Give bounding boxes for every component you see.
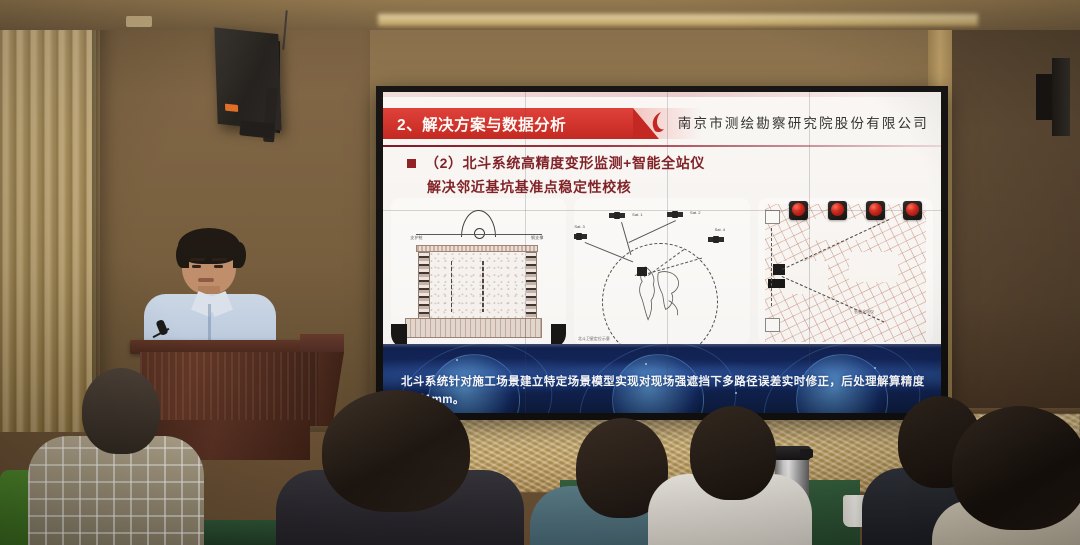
sight-line-3	[771, 228, 772, 306]
pit-cap-beam	[416, 245, 539, 252]
wall-speaker-right	[1052, 58, 1070, 136]
slide-bullet-block: （2）北斗系统高精度变形监测+智能全站仪 解决邻近基坑基准点稳定性校核	[407, 154, 827, 197]
satellite-icon-3	[574, 231, 587, 242]
presenter-eye-left	[192, 265, 201, 268]
led-seam-v3	[809, 92, 810, 413]
pit-retaining-wall-right	[525, 252, 537, 323]
presenter-brow-right	[212, 258, 227, 261]
slide-top-rule	[383, 92, 941, 97]
satellite-icon-4	[708, 234, 724, 245]
led-seam-v1	[525, 92, 526, 413]
podium-wood-grain	[140, 352, 318, 426]
ceiling-vent	[126, 16, 152, 27]
slide-section-banner: 2、解决方案与数据分析	[383, 108, 633, 139]
pit-label-right: 钢支撑	[531, 235, 544, 241]
speaker-brand-logo	[225, 104, 238, 112]
pit-strut-2	[482, 261, 484, 312]
led-video-wall-bezel: 2、解决方案与数据分析 南京市测绘勘察研究院股份有限公司 （2）北斗系统高精度变…	[376, 86, 948, 420]
satellite-icon-1	[609, 210, 625, 221]
signal-ray-3	[584, 242, 633, 262]
speaker-bracket-right	[1036, 74, 1052, 120]
conference-room-photo: 2、解决方案与数据分析 南京市测绘勘察研究院股份有限公司 （2）北斗系统高精度变…	[0, 0, 1080, 545]
satellite-label-3: Sat. 3	[574, 224, 584, 229]
satellite-label-4: Sat. 4	[715, 227, 725, 232]
pit-label-left: 支护桩	[410, 235, 423, 241]
podium-body	[140, 352, 318, 426]
attendee-head-mid-center	[690, 406, 776, 500]
satellite-label-1: Sat. 1	[632, 212, 642, 217]
company-name: 南京市测绘勘察研究院股份有限公司	[678, 112, 929, 132]
bullet-line-2: 解决邻近基坑基准点稳定性校核	[427, 178, 827, 197]
led-seam-h1	[383, 210, 941, 211]
plan-legend-box-bottom	[765, 318, 781, 332]
curtain-shadow	[92, 0, 101, 432]
presenter-brow-left	[190, 258, 205, 261]
total-station-icon	[773, 264, 785, 275]
header-divider	[383, 145, 941, 147]
panel2-note: 北斗卫星定位示意	[578, 336, 610, 342]
pit-base-slab	[405, 318, 542, 338]
thermos-spout	[800, 449, 813, 458]
slide-section-title: 2、解决方案与数据分析	[383, 113, 566, 135]
led-seam-v2	[667, 92, 668, 413]
presenter-hair-right	[233, 242, 246, 268]
pit-soil-fill	[430, 252, 526, 324]
slide-caption-text: 北斗系统针对施工场景建立特定场景模型实现对现场强遮挡下多路径误差实时修正，后处理…	[401, 374, 931, 410]
bullet-line-1: （2）北斗系统高精度变形监测+智能全站仪	[425, 154, 705, 173]
attendee-head-front-center	[322, 390, 470, 512]
cove-light	[378, 14, 978, 26]
company-brand: 南京市测绘勘察研究院股份有限公司	[649, 110, 929, 134]
presenter-hair-left	[176, 242, 189, 268]
panel-site-plan-diagram: 智能全站仪	[758, 198, 933, 348]
square-bullet-icon	[407, 159, 416, 168]
presenter-eye-right	[214, 265, 223, 268]
led-seam-h2	[383, 344, 941, 345]
attendee-head-far-right	[952, 406, 1080, 530]
podium-top-right	[300, 334, 344, 354]
plan-open-area-3	[810, 219, 870, 240]
panel-gnss-constellation-diagram: Sat. 1 Sat. 2 Sat. 3 Sat. 4	[574, 198, 749, 348]
plan-scale-label: 智能全站仪	[854, 309, 874, 315]
pit-strut-1	[451, 261, 453, 312]
attendee-head-front-left	[82, 368, 160, 454]
pit-header-line	[416, 234, 542, 235]
presenter-mouth	[198, 278, 214, 282]
plan-open-area-2	[849, 252, 898, 282]
slide-caption-band: 北斗系统针对施工场景建立特定场景模型实现对现场强遮挡下多路径误差实时修正，后处理…	[383, 344, 941, 413]
slide-panel-row: 支护桩 钢支撑	[391, 198, 933, 348]
pleated-curtain	[0, 0, 96, 432]
plan-legend-box-top	[765, 210, 781, 224]
continents-outline	[616, 261, 704, 327]
panel-foundation-pit-diagram: 支护桩 钢支撑	[391, 198, 566, 348]
signal-ray-1	[621, 222, 631, 255]
ground-receiver-icon	[637, 267, 647, 276]
presentation-slide: 2、解决方案与数据分析 南京市测绘勘察研究院股份有限公司 （2）北斗系统高精度变…	[383, 92, 941, 413]
signal-ray-2	[628, 220, 676, 243]
